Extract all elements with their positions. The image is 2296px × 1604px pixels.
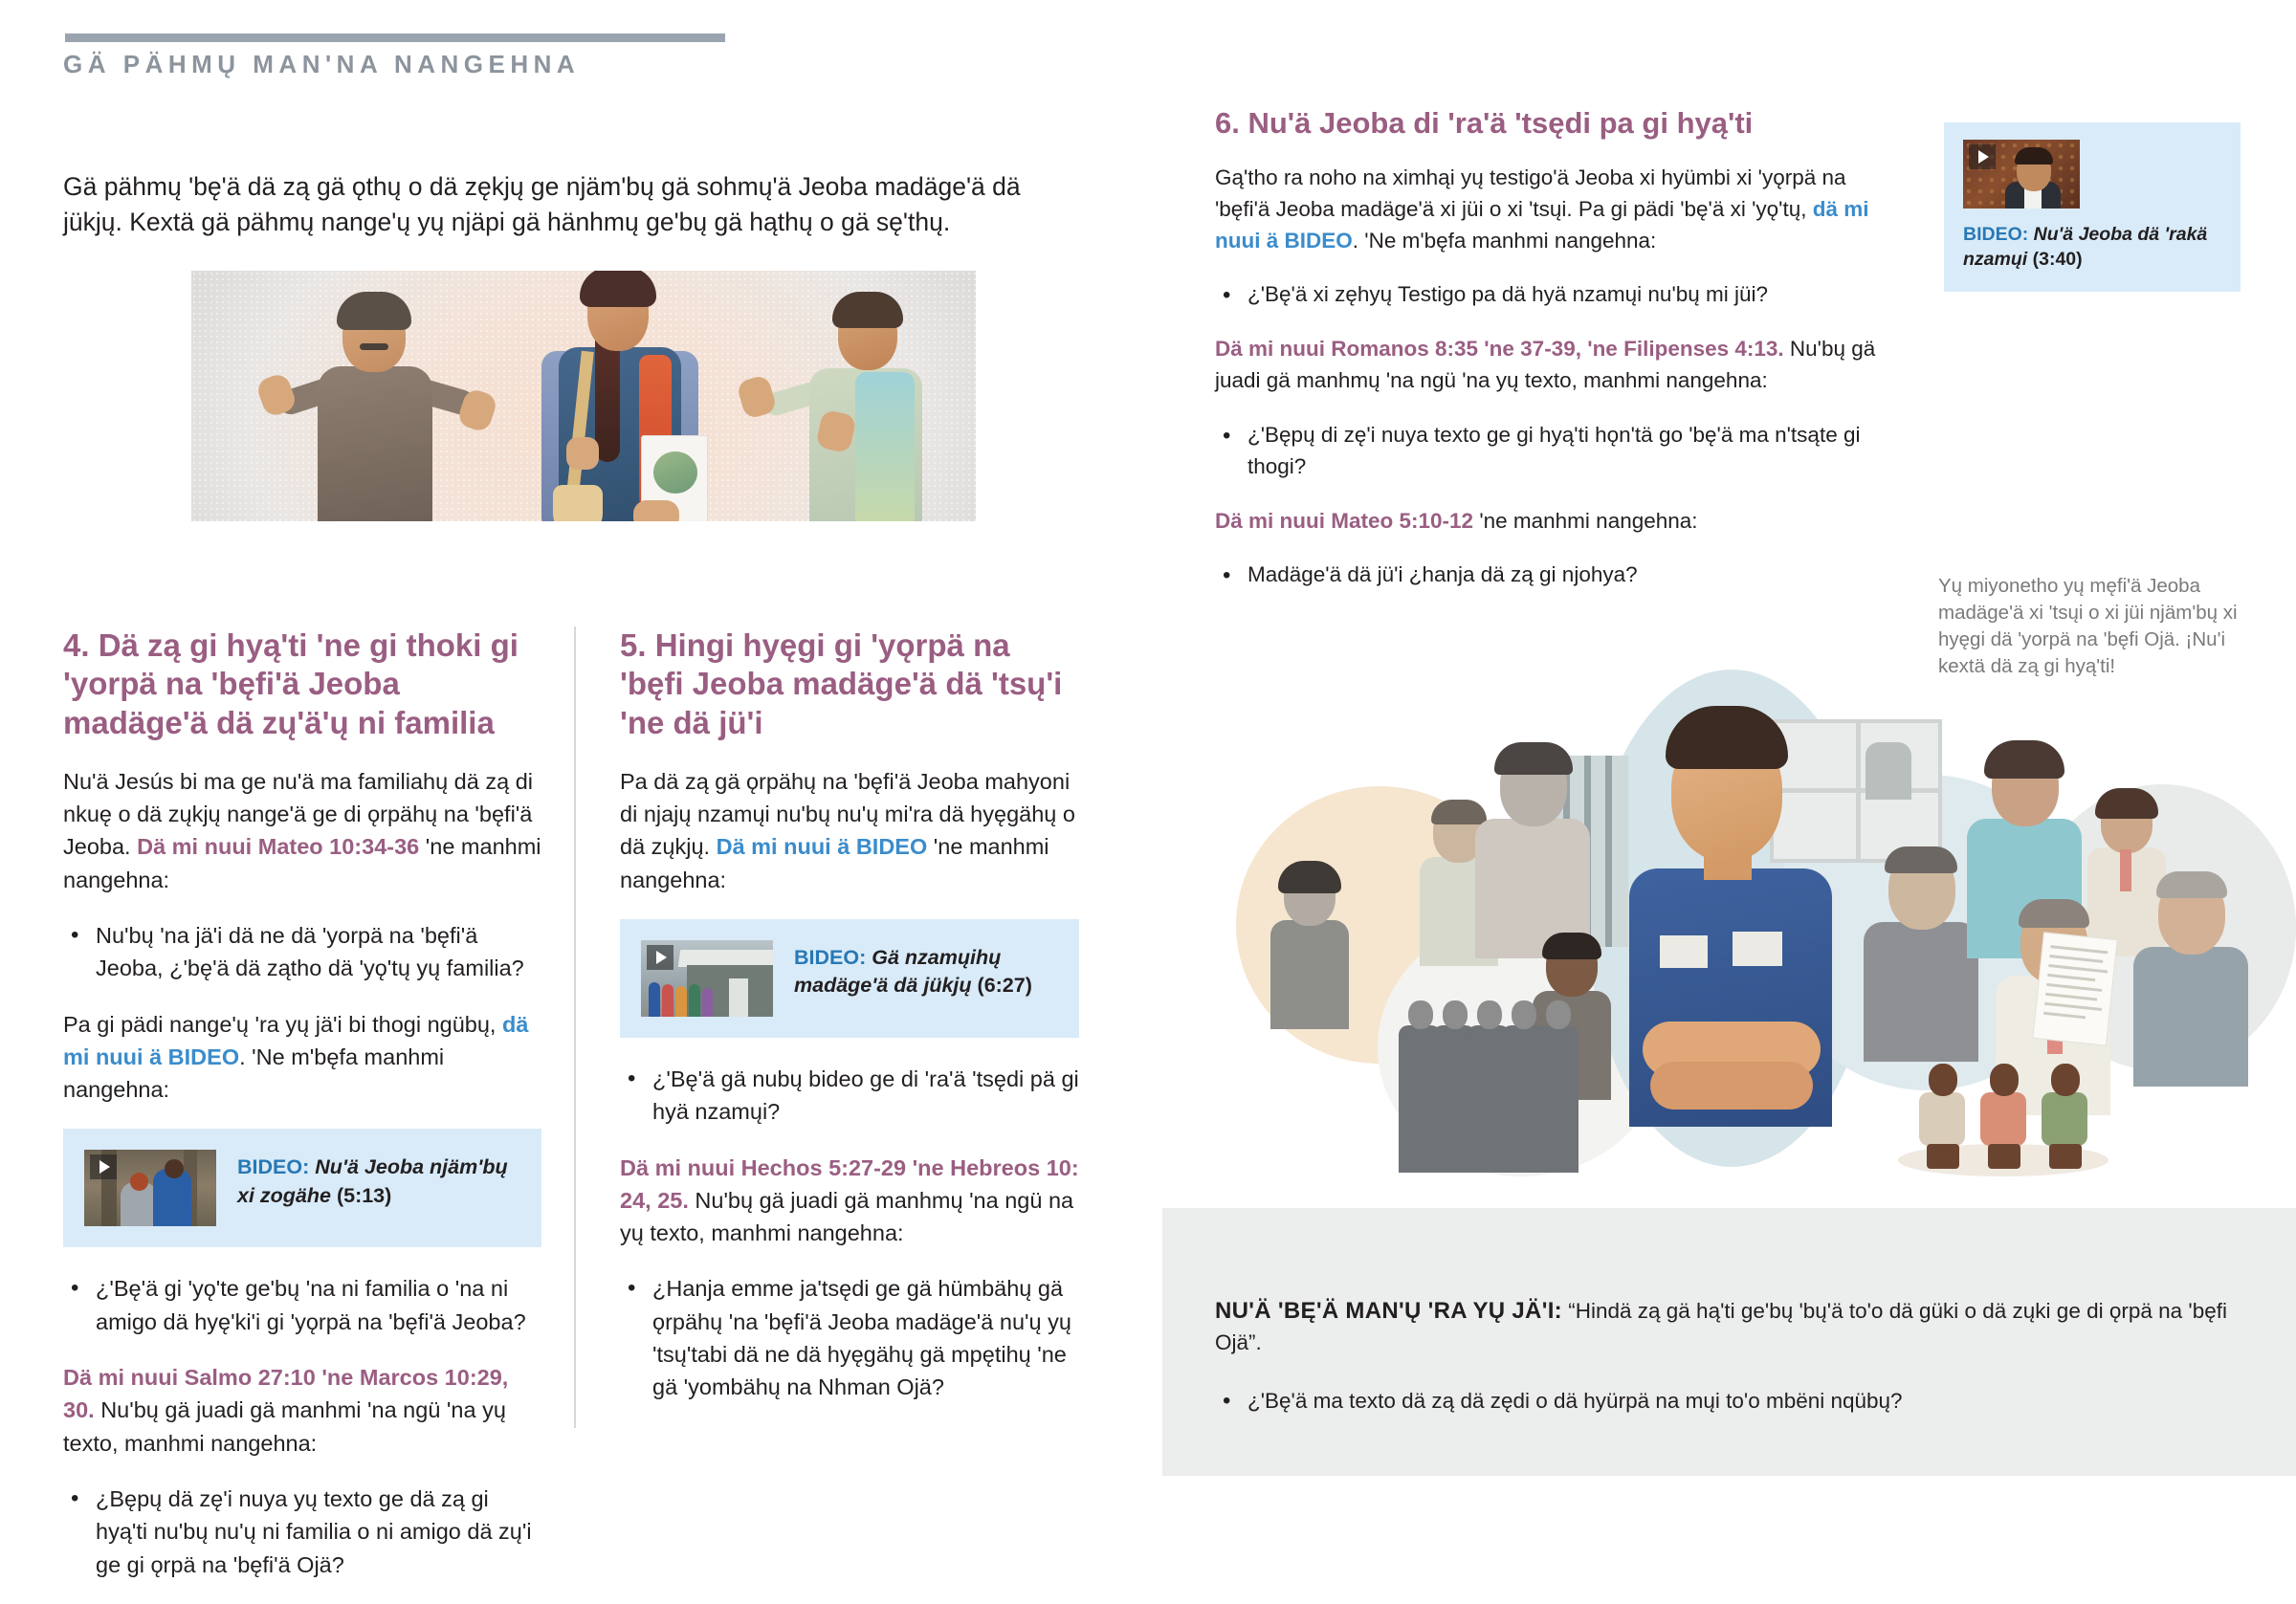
video-duration: (5:13) [337, 1184, 391, 1207]
section-6: 6. Nu'ä Jeoba di 'ra'ä 'tsędi pa gi hyą'… [1215, 105, 1885, 614]
section-4-heading: 4. Dä zą gi hyą'ti 'ne gi thoki gi 'yorp… [63, 626, 541, 742]
section-4-question-list-1: Nu'bų 'na jä'i dä ne dä 'yorpä na 'bęfi'… [63, 919, 541, 985]
hero-figure-mother [765, 292, 976, 521]
s6-p3-text-b: 'ne manhmi nangehna: [1473, 509, 1697, 533]
section-6-question-list-2: ¿'Bępų di zę'i nuya texto ge gi hyą'ti h… [1215, 420, 1885, 483]
section-5: 5. Hingi hyęgi gi 'yǫrpä na 'bęfi Jeoba … [620, 626, 1079, 1427]
section-6-question-list-1: ¿'Bę'ä xi zęhyų Testigo pa dä hyä nzamųi… [1215, 279, 1885, 311]
hero-illustration [191, 271, 976, 521]
section-4-question-list-2: ¿'Bę'ä gi 'yǫ'te ge'bų 'na ni familia o … [63, 1272, 541, 1338]
list-item: Nu'bų 'na jä'i dä ne dä 'yorpä na 'bęfi'… [96, 919, 541, 985]
bottom-panel: NU'Ä 'BĘ'Ä MAN'Ų 'RA YŲ JÄ'I: “Hindä zą … [1162, 1208, 2296, 1476]
collage-portrait-man-jacket [2133, 876, 2248, 1087]
play-icon[interactable] [90, 1154, 117, 1179]
page-kicker: GÄ PÄHMŲ MAN'NA NANGEHNA [63, 50, 580, 79]
bottom-panel-question-list: ¿'Bę'ä ma texto dä zą dä zędi o dä hyürp… [1215, 1386, 2229, 1417]
collage-seated-group [1904, 1016, 2105, 1169]
collage-portrait-older-man [1475, 748, 1590, 958]
bottom-panel-title: NU'Ä 'BĘ'Ä MAN'Ų 'RA YŲ JÄ'I: [1215, 1298, 1562, 1324]
section-5-paragraph-2: Dä mi nuui Hechos 5:27-29 'ne Hebreos 10… [620, 1152, 1079, 1250]
video-thumbnail-brother[interactable] [1963, 140, 2080, 209]
section-6-heading: 6. Nu'ä Jeoba di 'ra'ä 'tsędi pa gi hyą'… [1215, 105, 1885, 142]
video-box-section-4[interactable]: BIDEO: Nu'ä Jeoba njäm'bų xi zogähe (5:1… [63, 1129, 541, 1247]
hero-figure-father [283, 292, 503, 521]
collage-portrait-main-prisoner [1612, 706, 1851, 1127]
s6-scripture-ref-1: Dä mi nuui Romanos 8:35 'ne 37-39, 'ne F… [1215, 337, 1784, 361]
bottom-panel-content: NU'Ä 'BĘ'Ä MAN'Ų 'RA YŲ JÄ'I: “Hindä zą … [1215, 1273, 2229, 1417]
play-icon[interactable] [647, 945, 673, 970]
video-label: BIDEO: [1963, 224, 2028, 245]
section-4-paragraph-1: Nu'ä Jesús bi ma ge nu'ä ma familiahų dä… [63, 765, 541, 896]
list-item: ¿'Bę'ä gi 'yǫ'te ge'bų 'na ni familia o … [96, 1272, 541, 1338]
s6-p1-text-b: . 'Ne m'bęfa manhmi nangehna: [1353, 229, 1657, 253]
section-4: 4. Dä zą gi hyą'ti 'ne gi thoki gi 'yorp… [63, 626, 541, 1604]
video-caption: BIDEO: Nu'ä Jeoba dä 'rakä nzamųi (3:40) [1963, 222, 2221, 273]
video-duration: (6:27) [978, 974, 1032, 997]
video-box-section-6[interactable]: BIDEO: Nu'ä Jeoba dä 'rakä nzamųi (3:40) [1944, 122, 2241, 292]
left-pane: GÄ PÄHMŲ MAN'NA NANGEHNA Gä pähmų 'bę'ä … [0, 0, 1162, 1476]
video-thumbnail-couple[interactable] [84, 1150, 216, 1226]
video-caption: BIDEO: Nu'ä Jeoba njäm'bų xi zogähe (5:1… [237, 1150, 517, 1209]
header-rule [65, 33, 725, 42]
section-6-question-list-3: Madäge'ä dä jü'i ¿hanja dä zą gi njohya? [1215, 560, 1885, 591]
section-5-heading: 5. Hingi hyęgi gi 'yǫrpä na 'bęfi Jeoba … [620, 626, 1079, 742]
collage-portrait-woman-cream [1269, 867, 1351, 1029]
s6-p1-text-a: Gą'tho ra noho na ximhąi yų testigo'ä Je… [1215, 165, 1846, 221]
list-item: ¿'Bę'ä xi zęhyų Testigo pa dä hyä nzamųi… [1247, 279, 1885, 311]
section-6-paragraph-3: Dä mi nuui Mateo 5:10-12 'ne manhmi nang… [1215, 506, 1885, 538]
section-5-question-list-2: ¿Hanja emme ja'tsędi ge gä hümbähų gä ǫr… [620, 1272, 1079, 1403]
list-item: ¿Hanja emme ja'tsędi ge gä hümbähų gä ǫr… [652, 1272, 1079, 1403]
list-item: Madäge'ä dä jü'i ¿hanja dä zą gi njohya? [1247, 560, 1885, 591]
section-6-paragraph-2: Dä mi nuui Romanos 8:35 'ne 37-39, 'ne F… [1215, 334, 1885, 397]
video-caption: BIDEO: Gä nzamųihų madäge'ä dä jükjų (6:… [794, 940, 1054, 1000]
s6-scripture-ref-2: Dä mi nuui Mateo 5:10-12 [1215, 509, 1473, 533]
s4-p3-text-b: Nu'bų gä juadi gä manhmi 'na ngü 'na yų … [63, 1397, 506, 1455]
s5-p2-text-b: Nu'bų gä juadi gä manhmų 'na ngü na yų t… [620, 1188, 1073, 1245]
bottom-panel-statement: NU'Ä 'BĘ'Ä MAN'Ų 'RA YŲ JÄ'I: “Hindä zą … [1215, 1295, 2229, 1359]
video-label: BIDEO: [237, 1155, 309, 1178]
list-item: ¿'Bę'ä ma texto dä zą dä zędi o dä hyürp… [1247, 1386, 2229, 1417]
video-duration: (3:40) [2033, 249, 2083, 270]
intro-paragraph: Gä pähmų 'bę'ä dä zą gä ǫthų o dä zękjų … [63, 169, 1077, 241]
hero-figure-young-woman [507, 271, 746, 521]
video-thumbnail-kingdom-hall[interactable] [641, 940, 773, 1017]
s5-video-link[interactable]: Dä mi nuui ä BIDEO [717, 834, 928, 859]
video-box-section-5[interactable]: BIDEO: Gä nzamųihų madäge'ä dä jükjų (6:… [620, 919, 1079, 1038]
faithful-witnesses-collage [1177, 660, 2267, 1215]
section-5-paragraph-1: Pa dä zą gä ǫrpähų na 'bęfi'ä Jeoba mahy… [620, 765, 1079, 896]
collage-group-of-brothers [1399, 1000, 1619, 1182]
section-4-question-list-3: ¿Bępų dä zę'i nuya yų texto ge dä zą gi … [63, 1483, 541, 1581]
section-6-paragraph-1: Gą'tho ra noho na ximhąi yų testigo'ä Je… [1215, 163, 1885, 257]
play-icon[interactable] [1969, 144, 1996, 169]
section-4-paragraph-2: Pa gi pädi nange'ų 'ra yų jä'i bi thogi … [63, 1008, 541, 1107]
video-label: BIDEO: [794, 946, 866, 969]
list-item: ¿Bępų dä zę'i nuya yų texto ge dä zą gi … [96, 1483, 541, 1581]
s4-p2-text-a: Pa gi pädi nange'ų 'ra yų jä'i bi thogi … [63, 1012, 502, 1037]
section-5-question-list-1: ¿'Bę'ä gä nubų bideo ge di 'ra'ä 'tsędi … [620, 1063, 1079, 1129]
list-item: ¿'Bę'ä gä nubų bideo ge di 'ra'ä 'tsędi … [652, 1063, 1079, 1129]
publication-page: GÄ PÄHMŲ MAN'NA NANGEHNA Gä pähmų 'bę'ä … [0, 0, 2296, 1476]
list-item: ¿'Bępų di zę'i nuya texto ge gi hyą'ti h… [1247, 420, 1885, 483]
column-divider [574, 626, 576, 1428]
s4-scripture-ref-1: Dä mi nuui Mateo 10:34-36 [137, 834, 419, 859]
section-4-paragraph-3: Dä mi nuui Salmo 27:10 'ne Marcos 10:29,… [63, 1361, 541, 1460]
